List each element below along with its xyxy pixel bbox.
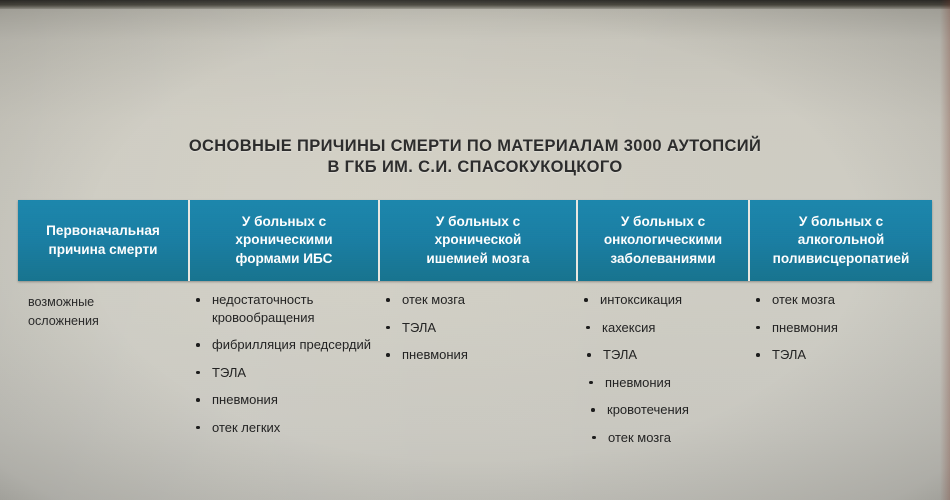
- header-line: У больных с: [773, 213, 910, 232]
- list-item: недостаточность кровообращения: [190, 291, 380, 326]
- list-item: ТЭЛА: [190, 364, 380, 382]
- list-item: интоксикация: [578, 291, 750, 309]
- slide-title-line-1: ОСНОВНЫЕ ПРИЧИНЫ СМЕРТИ ПО МАТЕРИАЛАМ 30…: [0, 136, 950, 157]
- background-right-edge: [940, 0, 950, 500]
- table-header-row: Первоначальная причина смерти У больных …: [18, 200, 932, 281]
- complication-list-ibs: недостаточность кровообращения фибрилляц…: [190, 291, 380, 436]
- list-item: ТЭЛА: [750, 346, 932, 364]
- table-header-cell-4: У больных с онкологическими заболеваниям…: [578, 200, 750, 281]
- list-item: отек мозга: [750, 291, 932, 309]
- table-body-cell-2: недостаточность кровообращения фибрилляц…: [190, 288, 380, 456]
- complication-list-oncology: интоксикация кахексия ТЭЛА пневмония кро…: [578, 291, 750, 446]
- list-item: отек мозга: [380, 291, 578, 309]
- table-header-cell-3: У больных с хронической ишемией мозга: [380, 200, 578, 281]
- header-line: ишемией мозга: [426, 250, 529, 269]
- list-item: пневмония: [750, 319, 932, 337]
- table-body-row: возможные осложнения недостаточность кро…: [18, 281, 932, 456]
- complication-list-alcoholic: отек мозга пневмония ТЭЛА: [750, 291, 932, 364]
- list-item: фибрилляция предсердий: [190, 336, 380, 354]
- header-line: алкогольной: [773, 231, 910, 250]
- list-item: ТЭЛА: [578, 346, 750, 364]
- table-body-cell-4: интоксикация кахексия ТЭЛА пневмония кро…: [578, 288, 750, 456]
- table-header-cell-1: Первоначальная причина смерти: [18, 200, 190, 281]
- table-body-cell-3: отек мозга ТЭЛА пневмония: [380, 288, 578, 456]
- initial-cause-note: возможные осложнения: [18, 291, 190, 331]
- header-line: хроническими: [235, 231, 332, 250]
- header-line: У больных с: [426, 213, 529, 232]
- causes-of-death-table: Первоначальная причина смерти У больных …: [18, 200, 932, 456]
- list-item: пневмония: [380, 346, 578, 364]
- list-item: отек мозга: [578, 429, 750, 447]
- table-header-cell-2: У больных с хроническими формами ИБС: [190, 200, 380, 281]
- list-item: кровотечения: [578, 401, 750, 419]
- header-line: причина смерти: [46, 241, 160, 260]
- header-line: хронической: [426, 231, 529, 250]
- slide-title-line-2: В ГКБ ИМ. С.И. СПАСОКУКОЦКОГО: [0, 157, 950, 178]
- list-item: ТЭЛА: [380, 319, 578, 337]
- header-line: поливисцеропатией: [773, 250, 910, 269]
- table-body-cell-5: отек мозга пневмония ТЭЛА: [750, 288, 932, 456]
- list-item: пневмония: [578, 374, 750, 392]
- note-line: возможные: [28, 293, 190, 312]
- note-line: осложнения: [28, 312, 190, 331]
- list-item: кахексия: [578, 319, 750, 337]
- header-line: У больных с: [235, 213, 332, 232]
- header-line: Первоначальная: [46, 222, 160, 241]
- table-header-cell-5: У больных с алкогольной поливисцеропатие…: [750, 200, 932, 281]
- slide-title: ОСНОВНЫЕ ПРИЧИНЫ СМЕРТИ ПО МАТЕРИАЛАМ 30…: [0, 136, 950, 178]
- list-item: отек легких: [190, 419, 380, 437]
- list-item: пневмония: [190, 391, 380, 409]
- header-line: заболеваниями: [604, 250, 722, 269]
- complication-list-brain-ischemia: отек мозга ТЭЛА пневмония: [380, 291, 578, 364]
- header-line: онкологическими: [604, 231, 722, 250]
- header-line: У больных с: [604, 213, 722, 232]
- header-line: формами ИБС: [235, 250, 332, 269]
- slide-photo: ОСНОВНЫЕ ПРИЧИНЫ СМЕРТИ ПО МАТЕРИАЛАМ 30…: [0, 0, 950, 500]
- table-body-cell-1: возможные осложнения: [18, 288, 190, 456]
